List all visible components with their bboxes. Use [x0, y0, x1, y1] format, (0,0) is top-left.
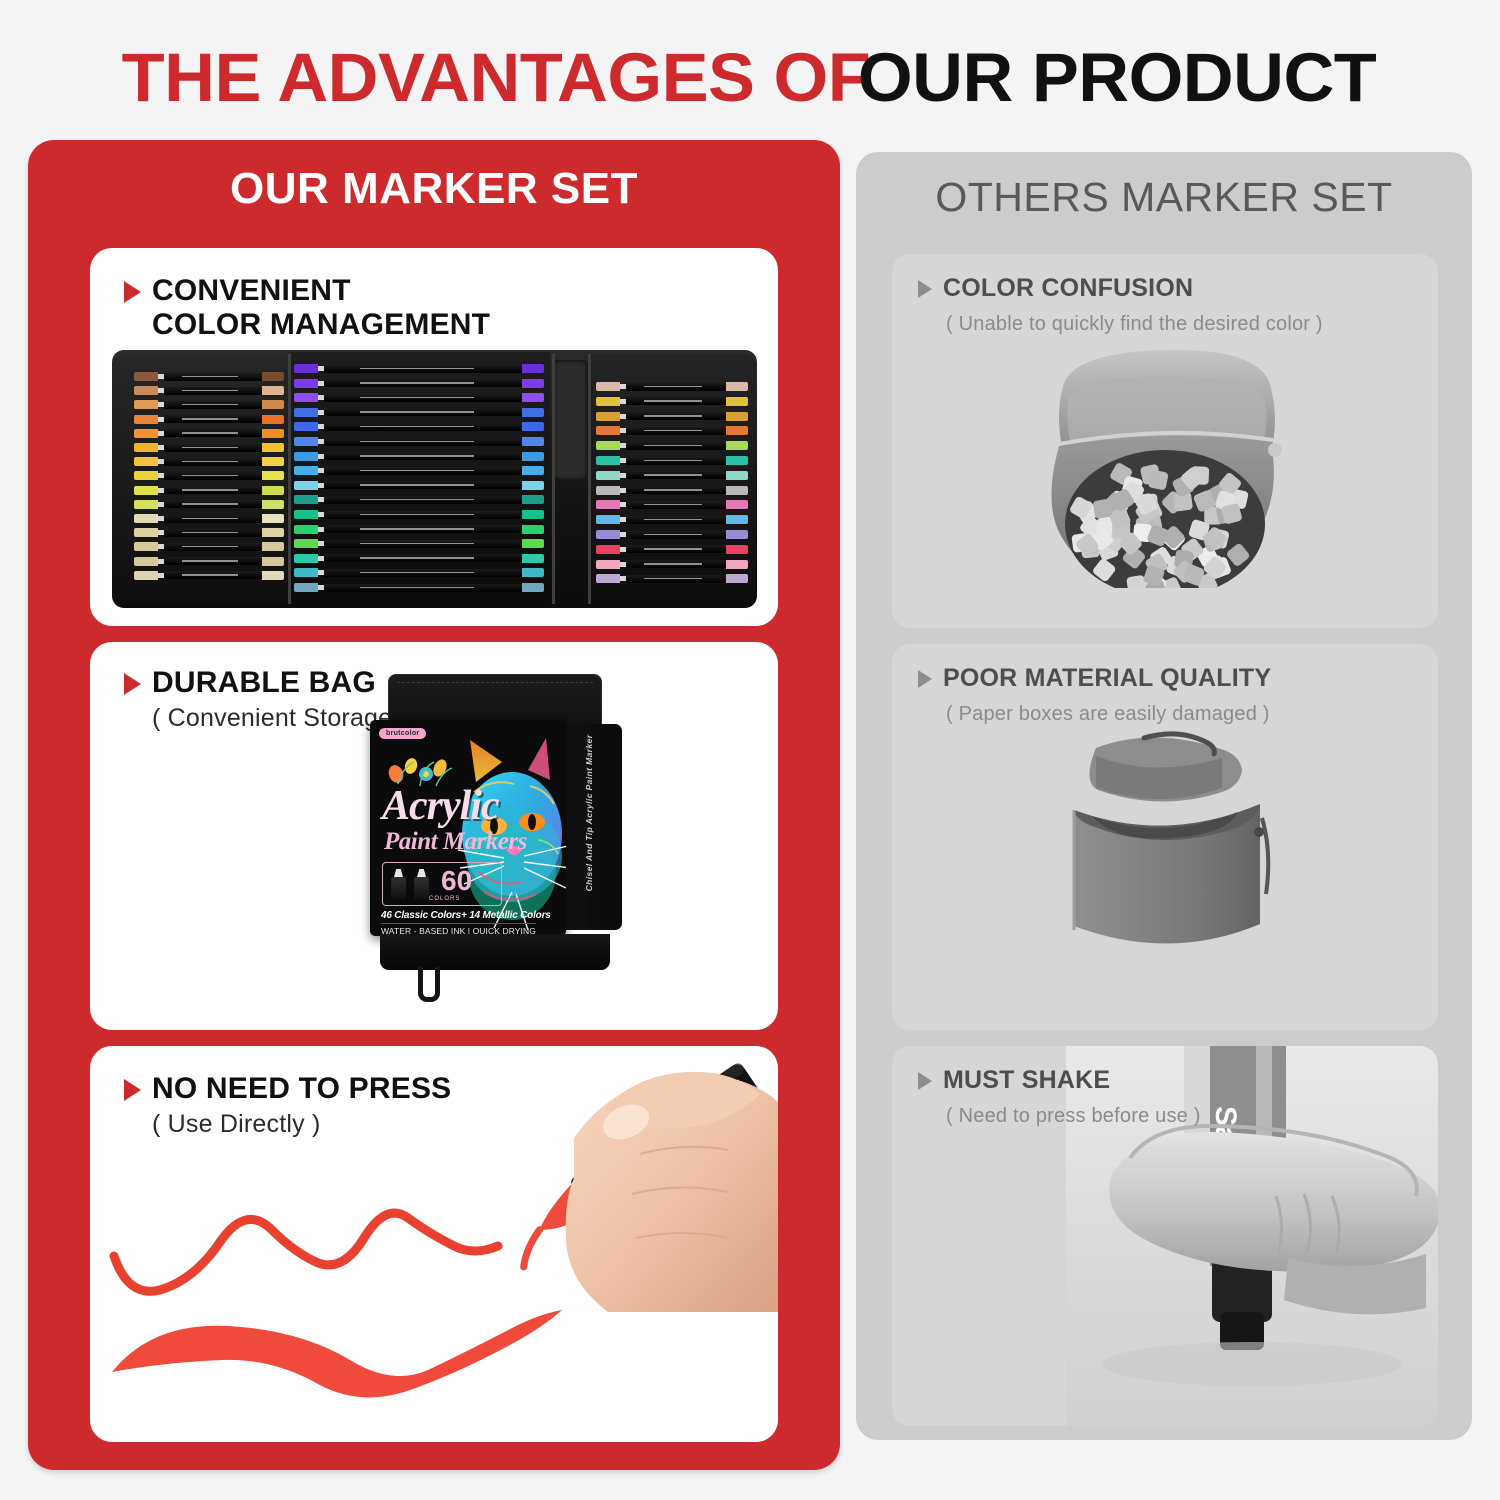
box-color-count-label: COLORS: [429, 896, 472, 902]
feature-heading-line1: DURABLE BAG: [152, 666, 408, 700]
our-marker-set-panel: OUR MARKER SET CONVENIENT COLOR MANAGEME…: [28, 140, 840, 1470]
marker-pen: [294, 422, 544, 431]
pouch-marker-cap: [1148, 469, 1169, 490]
marker-pen: [134, 528, 284, 537]
marker-pen: [294, 568, 544, 577]
marker-pen: [596, 382, 748, 391]
feature-card-no-press: NO NEED TO PRESS ( Use Directly ) Paint: [90, 1046, 778, 1442]
feature-heading-no-press: NO NEED TO PRESS ( Use Directly ): [124, 1072, 451, 1139]
marker-pen: [294, 408, 544, 417]
marker-case-image: [112, 350, 757, 608]
bag-bottom: [380, 934, 610, 970]
others-fabric-box-image: [1040, 714, 1290, 964]
marker-pen: [596, 560, 748, 569]
marker-pen: [294, 495, 544, 504]
page-title: THE ADVANTAGES OF OUR PRODUCT: [0, 38, 1500, 117]
box-brand-label: brutcolor: [379, 728, 426, 739]
drawback-card-must-shake: MUST SHAKE ( Need to press before use ): [892, 1046, 1438, 1426]
marker-pen: [596, 456, 748, 465]
marker-pen: [294, 539, 544, 548]
box-title-line2: Paint Markers: [384, 828, 527, 856]
marker-pen: [134, 457, 284, 466]
bag-hanging-loop: [418, 966, 440, 1002]
marker-pen: [294, 364, 544, 373]
marker-pen: [294, 452, 544, 461]
marker-pen: [294, 466, 544, 475]
page-title-accent: THE ADVANTAGES OF: [122, 38, 871, 117]
marker-pen: [596, 515, 748, 524]
feature-card-color-management: CONVENIENT COLOR MANAGEMENT: [90, 248, 778, 626]
product-box-front: brutcolor Acrylic Paint Markers: [370, 720, 566, 936]
drawback-heading-must-shake: MUST SHAKE: [918, 1066, 1110, 1095]
our-marker-set-title: OUR MARKER SET: [28, 164, 840, 214]
others-pouch-image: [1035, 328, 1295, 588]
marker-pen: [134, 571, 284, 580]
marker-pen: [294, 583, 544, 592]
pouch-marker-cap: [1092, 498, 1113, 519]
marker-pen: [596, 426, 748, 435]
marker-pen: [596, 500, 748, 509]
marker-pen: [134, 372, 284, 381]
others-marker-set-panel: OTHERS MARKER SET COLOR CONFUSION ( Unab…: [856, 152, 1472, 1440]
box-title-line1: Acrylic: [382, 782, 499, 830]
marker-icon: [414, 869, 429, 899]
marker-pen: [134, 443, 284, 452]
hand-pressing-marker-image: Sanji: [1066, 1046, 1438, 1426]
drawback-card-poor-material: POOR MATERIAL QUALITY ( Paper boxes are …: [892, 644, 1438, 1030]
box-count-badge: 60 COLORS: [382, 862, 502, 906]
marker-pen: [134, 415, 284, 424]
marker-pen: [134, 542, 284, 551]
feature-heading-line2: COLOR MANAGEMENT: [152, 308, 490, 342]
feature-card-durable-bag: DURABLE BAG ( Convenient Storage ) Chise…: [90, 642, 778, 1030]
marker-pen: [134, 486, 284, 495]
box-colors-text: 46 Classic Colors+ 14 Metallic Colors: [381, 910, 551, 921]
triangle-bullet-icon: [918, 280, 932, 298]
marker-pen: [596, 545, 748, 554]
drawback-heading: POOR MATERIAL QUALITY: [943, 664, 1271, 693]
marker-pen: [596, 574, 748, 583]
marker-pen: [596, 397, 748, 406]
box-spine-text: Chisel And Tip Acrylic Paint Marker: [584, 728, 594, 898]
page-title-main: OUR PRODUCT: [858, 38, 1376, 117]
marker-pen: [294, 554, 544, 563]
triangle-bullet-icon: [124, 673, 141, 695]
feature-subtitle: ( Use Directly ): [152, 1110, 451, 1139]
feature-heading-color-management: CONVENIENT COLOR MANAGEMENT: [124, 274, 490, 341]
triangle-bullet-icon: [918, 670, 932, 688]
drawback-heading-poor-material: POOR MATERIAL QUALITY: [918, 664, 1271, 693]
others-marker-set-title: OTHERS MARKER SET: [856, 174, 1472, 221]
drawback-subtitle: ( Need to press before use ): [946, 1105, 1201, 1128]
marker-pen: [134, 429, 284, 438]
marker-pen: [134, 471, 284, 480]
marker-pen: [294, 437, 544, 446]
marker-pen: [596, 441, 748, 450]
marker-pen: [596, 412, 748, 421]
marker-icon: [391, 869, 406, 899]
red-brush-strokes: [106, 1176, 626, 1426]
triangle-bullet-icon: [918, 1072, 932, 1090]
marker-pen: [294, 393, 544, 402]
triangle-bullet-icon: [124, 1079, 141, 1101]
drawback-heading: MUST SHAKE: [943, 1066, 1110, 1095]
marker-pen: [596, 486, 748, 495]
marker-pen: [134, 557, 284, 566]
marker-pen: [134, 514, 284, 523]
drawback-heading-color-confusion: COLOR CONFUSION: [918, 274, 1193, 303]
box-color-count: 60: [441, 867, 472, 895]
marker-pen: [134, 400, 284, 409]
marker-pen: [294, 481, 544, 490]
marker-pen: [596, 530, 748, 539]
marker-pen: [294, 525, 544, 534]
marker-pen: [294, 379, 544, 388]
marker-pen: [134, 386, 284, 395]
marker-pen: [596, 471, 748, 480]
drawback-heading: COLOR CONFUSION: [943, 274, 1193, 303]
marker-pen: [294, 510, 544, 519]
triangle-bullet-icon: [124, 281, 141, 303]
feature-heading-line1: CONVENIENT: [152, 274, 490, 308]
durable-bag-image: Chisel And Tip Acrylic Paint Marker: [362, 720, 628, 946]
feature-heading-line1: NO NEED TO PRESS: [152, 1072, 451, 1106]
marker-pen: [134, 500, 284, 509]
drawback-card-color-confusion: COLOR CONFUSION ( Unable to quickly find…: [892, 254, 1438, 628]
